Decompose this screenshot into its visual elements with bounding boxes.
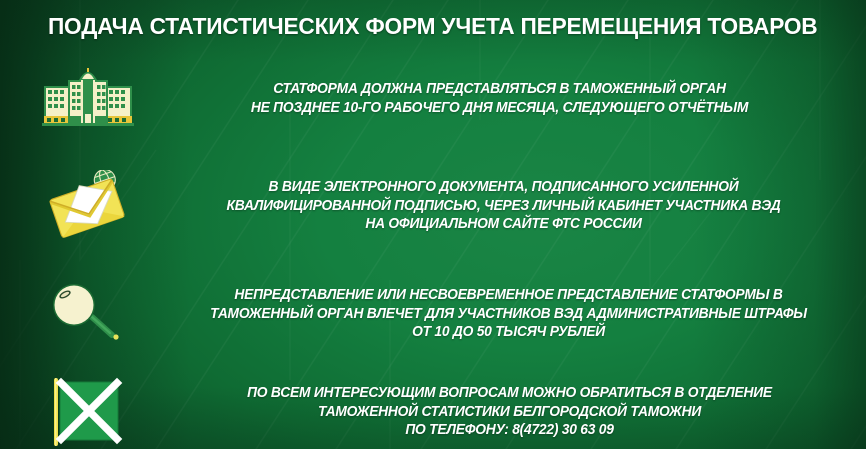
icon-slot-flag xyxy=(0,376,175,448)
text-slot-deadline: СТАТФОРМА ДОЛЖНА ПРЕДСТАВЛЯТЬСЯ В ТАМОЖЕ… xyxy=(175,80,866,117)
icon-slot-magnifier xyxy=(0,277,175,351)
row-text-electronic-document: В ВИДЕ ЭЛЕКТРОННОГО ДОКУМЕНТА, ПОДПИСАНН… xyxy=(188,178,819,234)
icon-slot-building xyxy=(0,68,175,130)
row-text-contacts: ПО ВСЕМ ИНТЕРЕСУЮЩИМ ВОПРОСАМ МОЖНО ОБРА… xyxy=(198,384,821,440)
row-text-deadline: СТАТФОРМА ДОЛЖНА ПРЕДСТАВЛЯТЬСЯ В ТАМОЖЕ… xyxy=(192,80,807,117)
icon-slot-envelope xyxy=(0,170,175,242)
poster-title-band: ПОДАЧА СТАТИСТИЧЕСКИХ ФОРМ УЧЕТА ПЕРЕМЕЩ… xyxy=(0,0,866,52)
customs-flag-icon xyxy=(40,376,136,448)
page-title: ПОДАЧА СТАТИСТИЧЕСКИХ ФОРМ УЧЕТА ПЕРЕМЕЩ… xyxy=(48,13,818,40)
text-slot-contacts: ПО ВСЕМ ИНТЕРЕСУЮЩИМ ВОПРОСАМ МОЖНО ОБРА… xyxy=(175,384,866,440)
info-row-penalties: НЕПРЕДСТАВЛЕНИЕ ИЛИ НЕСВОЕВРЕМЕННОЕ ПРЕД… xyxy=(0,268,866,360)
row-text-penalties: НЕПРЕДСТАВЛЕНИЕ ИЛИ НЕСВОЕВРЕМЕННОЕ ПРЕД… xyxy=(188,286,828,342)
government-building-icon xyxy=(40,68,136,130)
info-row-deadline: СТАТФОРМА ДОЛЖНА ПРЕДСТАВЛЯТЬСЯ В ТАМОЖЕ… xyxy=(0,60,866,138)
info-row-contacts: ПО ВСЕМ ИНТЕРЕСУЮЩИМ ВОПРОСАМ МОЖНО ОБРА… xyxy=(0,372,866,449)
envelope-globe-icon xyxy=(40,170,136,242)
info-row-electronic-document: В ВИДЕ ЭЛЕКТРОННОГО ДОКУМЕНТА, ПОДПИСАНН… xyxy=(0,160,866,252)
poster-root: ПОДАЧА СТАТИСТИЧЕСКИХ ФОРМ УЧЕТА ПЕРЕМЕЩ… xyxy=(0,0,866,449)
magnifying-glass-icon xyxy=(40,277,136,351)
text-slot-penalties: НЕПРЕДСТАВЛЕНИЕ ИЛИ НЕСВОЕВРЕМЕННОЕ ПРЕД… xyxy=(175,286,866,342)
text-slot-electronic-document: В ВИДЕ ЭЛЕКТРОННОГО ДОКУМЕНТА, ПОДПИСАНН… xyxy=(175,178,866,234)
